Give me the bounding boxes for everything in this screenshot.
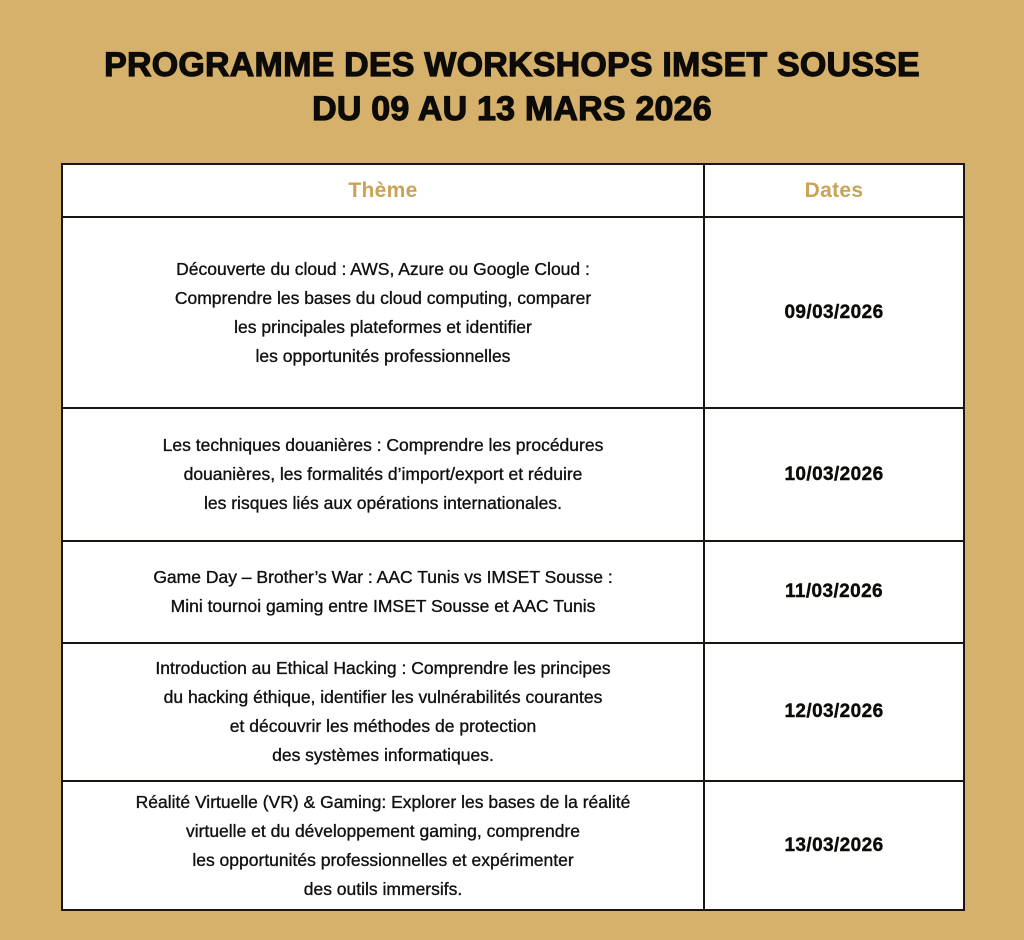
workshop-date-cell: 13/03/2026: [704, 781, 964, 910]
page-title-line-1: PROGRAMME DES WORKSHOPS IMSET SOUSSE: [0, 44, 1024, 86]
table-row: Les techniques douanières : Comprendre l…: [62, 408, 964, 541]
workshop-theme-line: Les techniques douanières : Comprendre l…: [63, 431, 703, 460]
workshop-theme-line: Découverte du cloud : AWS, Azure ou Goog…: [63, 255, 703, 284]
column-header-theme: Thème: [62, 164, 704, 217]
workshop-theme-line: Réalité Virtuelle (VR) & Gaming: Explore…: [63, 788, 703, 817]
workshop-theme-line: des systèmes informatiques.: [63, 741, 703, 770]
workshop-theme-line: Comprendre les bases du cloud computing,…: [63, 284, 703, 313]
table-body: Découverte du cloud : AWS, Azure ou Goog…: [62, 217, 964, 910]
workshop-theme-line: virtuelle et du développement gaming, co…: [63, 817, 703, 846]
workshop-theme-cell: Introduction au Ethical Hacking : Compre…: [62, 643, 704, 781]
table-row: Game Day – Brother’s War : AAC Tunis vs …: [62, 541, 964, 643]
workshop-theme-line: Game Day – Brother’s War : AAC Tunis vs …: [63, 563, 703, 592]
workshop-schedule-table: Thème Dates Découverte du cloud : AWS, A…: [61, 163, 965, 911]
workshop-theme-line: les opportunités professionnelles: [63, 342, 703, 371]
column-header-dates: Dates: [704, 164, 964, 217]
workshop-theme-cell: Les techniques douanières : Comprendre l…: [62, 408, 704, 541]
table-header: Thème Dates: [62, 164, 964, 217]
workshop-theme-line: les opportunités professionnelles et exp…: [63, 846, 703, 875]
page-title-line-2: DU 09 AU 13 MARS 2026: [0, 88, 1024, 130]
workshop-date-cell: 12/03/2026: [704, 643, 964, 781]
workshop-date-cell: 10/03/2026: [704, 408, 964, 541]
workshop-theme-line: des outils immersifs.: [63, 875, 703, 904]
table-header-row: Thème Dates: [62, 164, 964, 217]
workshop-theme-cell: Réalité Virtuelle (VR) & Gaming: Explore…: [62, 781, 704, 910]
table-row: Découverte du cloud : AWS, Azure ou Goog…: [62, 217, 964, 408]
workshop-theme-cell: Découverte du cloud : AWS, Azure ou Goog…: [62, 217, 704, 408]
table-row: Introduction au Ethical Hacking : Compre…: [62, 643, 964, 781]
workshop-date-cell: 09/03/2026: [704, 217, 964, 408]
workshop-theme-line: du hacking éthique, identifier les vulné…: [63, 683, 703, 712]
table-row: Réalité Virtuelle (VR) & Gaming: Explore…: [62, 781, 964, 910]
workshop-theme-line: Introduction au Ethical Hacking : Compre…: [63, 654, 703, 683]
workshop-theme-line: et découvrir les méthodes de protection: [63, 712, 703, 741]
page-title: PROGRAMME DES WORKSHOPS IMSET SOUSSE DU …: [0, 44, 1024, 130]
workshop-schedule-container: Thème Dates Découverte du cloud : AWS, A…: [61, 163, 963, 911]
workshop-theme-line: Mini tournoi gaming entre IMSET Sousse e…: [63, 592, 703, 621]
workshop-theme-line: les principales plateformes et identifie…: [63, 313, 703, 342]
workshop-theme-cell: Game Day – Brother’s War : AAC Tunis vs …: [62, 541, 704, 643]
workshop-theme-line: les risques liés aux opérations internat…: [63, 489, 703, 518]
workshop-theme-line: douanières, les formalités d’import/expo…: [63, 460, 703, 489]
workshop-date-cell: 11/03/2026: [704, 541, 964, 643]
